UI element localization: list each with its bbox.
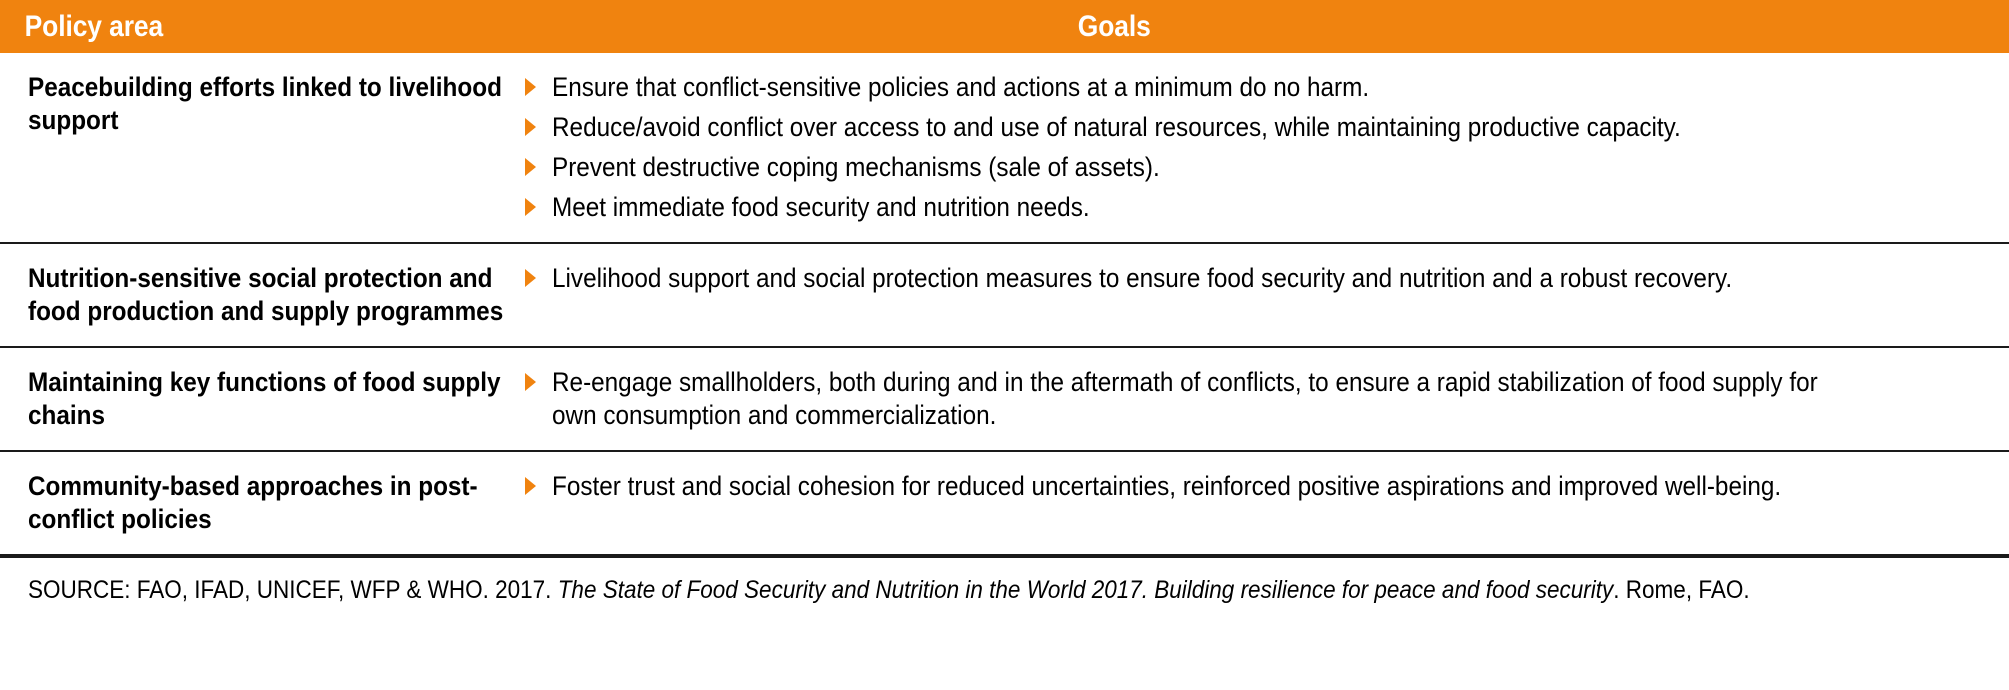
cell-goals: Livelihood support and social protection… — [524, 244, 2009, 313]
goal-text: Meet immediate food security and nutriti… — [552, 191, 1845, 224]
cell-goals: Re-engage smallholders, both during and … — [524, 348, 2009, 450]
goal-list-item: Reduce/avoid conflict over access to and… — [524, 111, 1989, 144]
table-row: Peacebuilding efforts linked to liveliho… — [0, 53, 2009, 244]
goal-list: Ensure that conflict-sensitive policies … — [524, 71, 1989, 224]
policy-goals-table: Policy area Goals Peacebuilding efforts … — [0, 0, 2009, 617]
goal-list-item: Prevent destructive coping mechanisms (s… — [524, 151, 1989, 184]
cell-goals: Foster trust and social cohesion for red… — [524, 452, 2009, 521]
goal-text: Livelihood support and social protection… — [552, 262, 1845, 295]
goal-text: Reduce/avoid conflict over access to and… — [552, 111, 1845, 144]
cell-policy-area: Nutrition-sensitive social protection an… — [0, 244, 524, 346]
cell-policy-area: Maintaining key functions of food supply… — [0, 348, 524, 450]
policy-area-text: Community-based approaches in post-confl… — [28, 470, 510, 536]
table-row: Nutrition-sensitive social protection an… — [0, 244, 2009, 348]
header-cell-goals: Goals — [524, 10, 2009, 44]
triangle-right-bullet-icon — [524, 191, 552, 216]
source-text: SOURCE: FAO, IFAD, UNICEF, WFP & WHO. 20… — [28, 574, 1987, 607]
goal-text: Foster trust and social cohesion for red… — [552, 470, 1845, 503]
goal-list: Foster trust and social cohesion for red… — [524, 470, 1989, 503]
table-row: Maintaining key functions of food supply… — [0, 348, 2009, 452]
header-cell-policy-area: Policy area — [0, 10, 524, 44]
goal-list-item: Meet immediate food security and nutriti… — [524, 191, 1989, 224]
cell-goals: Ensure that conflict-sensitive policies … — [524, 53, 2009, 242]
goal-list-item: Livelihood support and social protection… — [524, 262, 1989, 295]
goal-text: Re-engage smallholders, both during and … — [552, 366, 1845, 432]
goal-text: Ensure that conflict-sensitive policies … — [552, 71, 1845, 104]
header-label-policy-area: Policy area — [0, 10, 461, 44]
header-label-goals: Goals — [1076, 10, 1897, 44]
cell-policy-area: Peacebuilding efforts linked to liveliho… — [0, 53, 524, 155]
triangle-right-bullet-icon — [524, 151, 552, 176]
table-body: Peacebuilding efforts linked to liveliho… — [0, 53, 2009, 556]
goal-text: Prevent destructive coping mechanisms (s… — [552, 151, 1845, 184]
triangle-right-bullet-icon — [524, 470, 552, 495]
goal-list-item: Ensure that conflict-sensitive policies … — [524, 71, 1989, 104]
table-row: Community-based approaches in post-confl… — [0, 452, 2009, 556]
source-publication-title: The State of Food Security and Nutrition… — [558, 576, 1614, 604]
source-prefix: SOURCE: FAO, IFAD, UNICEF, WFP & WHO. 20… — [28, 576, 558, 604]
policy-area-text: Nutrition-sensitive social protection an… — [28, 262, 510, 328]
triangle-right-bullet-icon — [524, 366, 552, 391]
goal-list-item: Foster trust and social cohesion for red… — [524, 470, 1989, 503]
triangle-right-bullet-icon — [524, 262, 552, 287]
goal-list-item: Re-engage smallholders, both during and … — [524, 366, 1989, 432]
policy-area-text: Maintaining key functions of food supply… — [28, 366, 510, 432]
goal-list: Livelihood support and social protection… — [524, 262, 1989, 295]
goal-list: Re-engage smallholders, both during and … — [524, 366, 1989, 432]
source-note: SOURCE: FAO, IFAD, UNICEF, WFP & WHO. 20… — [0, 558, 2009, 617]
table-header-row: Policy area Goals — [0, 0, 2009, 53]
triangle-right-bullet-icon — [524, 111, 552, 136]
policy-area-text: Peacebuilding efforts linked to liveliho… — [28, 71, 510, 137]
triangle-right-bullet-icon — [524, 71, 552, 96]
source-suffix: . Rome, FAO. — [1613, 576, 1749, 604]
cell-policy-area: Community-based approaches in post-confl… — [0, 452, 524, 554]
